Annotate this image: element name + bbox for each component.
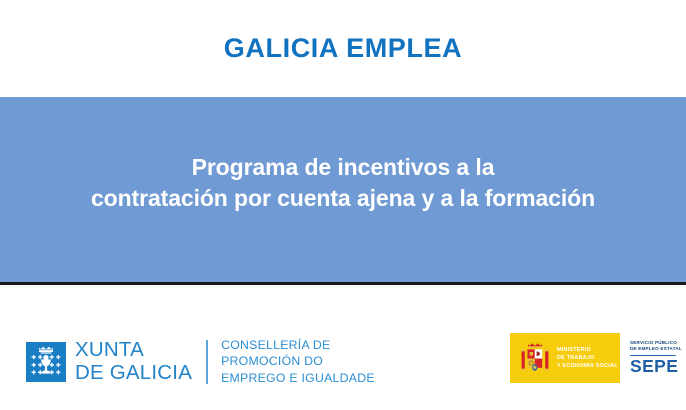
banner-line-1: Programa de incentivos a la <box>0 152 686 183</box>
ministerio-de-trabajo-logo: MINISTERIO DE TRABAJO Y ECONOMÍA SOCIAL <box>510 333 620 383</box>
xunta-wordmark-line-2: DE GALICIA <box>75 362 192 385</box>
ministerio-line-1: MINISTERIO <box>557 346 618 354</box>
xunta-de-galicia-logo: XUNTA DE GALICIA CONSELLERÍA DE PROMOCIÓ… <box>26 337 375 386</box>
header-band: GALICIA EMPLEA <box>0 0 686 97</box>
banner-line-2: contratación por cuenta ajena y a la for… <box>0 183 686 214</box>
conselleria-line-3: EMPREGO E IGUALDADE <box>221 370 375 386</box>
spain-coat-of-arms-icon <box>519 339 551 377</box>
galicia-coat-of-arms-icon <box>26 342 66 382</box>
government-logos: MINISTERIO DE TRABAJO Y ECONOMÍA SOCIAL … <box>510 333 686 383</box>
banner-text-block: Programa de incentivos a la contratación… <box>0 152 686 227</box>
ministerio-line-3: Y ECONOMÍA SOCIAL <box>557 362 618 370</box>
xunta-wordmark: XUNTA DE GALICIA <box>75 339 192 385</box>
sepe-name-line-1: SERVICIO PÚBLICO <box>630 340 676 347</box>
conselleria-name: CONSELLERÍA DE PROMOCIÓN DO EMPREGO E IG… <box>221 337 375 386</box>
page-title: GALICIA EMPLEA <box>224 35 462 62</box>
conselleria-line-2: PROMOCIÓN DO <box>221 353 375 369</box>
conselleria-line-1: CONSELLERÍA DE <box>221 337 375 353</box>
sepe-full-name: SERVICIO PÚBLICO DE EMPLEO ESTATAL <box>630 340 676 353</box>
xunta-wordmark-line-1: XUNTA <box>75 339 192 362</box>
sepe-logo: SERVICIO PÚBLICO DE EMPLEO ESTATAL SEPE <box>620 333 686 383</box>
poster-page: GALICIA EMPLEA Programa de incentivos a … <box>0 0 686 410</box>
ministerio-line-2: DE TRABAJO <box>557 354 618 362</box>
logo-divider <box>206 340 208 384</box>
sepe-acronym: SEPE <box>630 358 676 376</box>
ministerio-text: MINISTERIO DE TRABAJO Y ECONOMÍA SOCIAL <box>557 346 618 370</box>
program-banner: Programa de incentivos a la contratación… <box>0 97 686 285</box>
footer-logos: XUNTA DE GALICIA CONSELLERÍA DE PROMOCIÓ… <box>0 285 686 404</box>
sepe-name-line-2: DE EMPLEO ESTATAL <box>630 346 676 353</box>
